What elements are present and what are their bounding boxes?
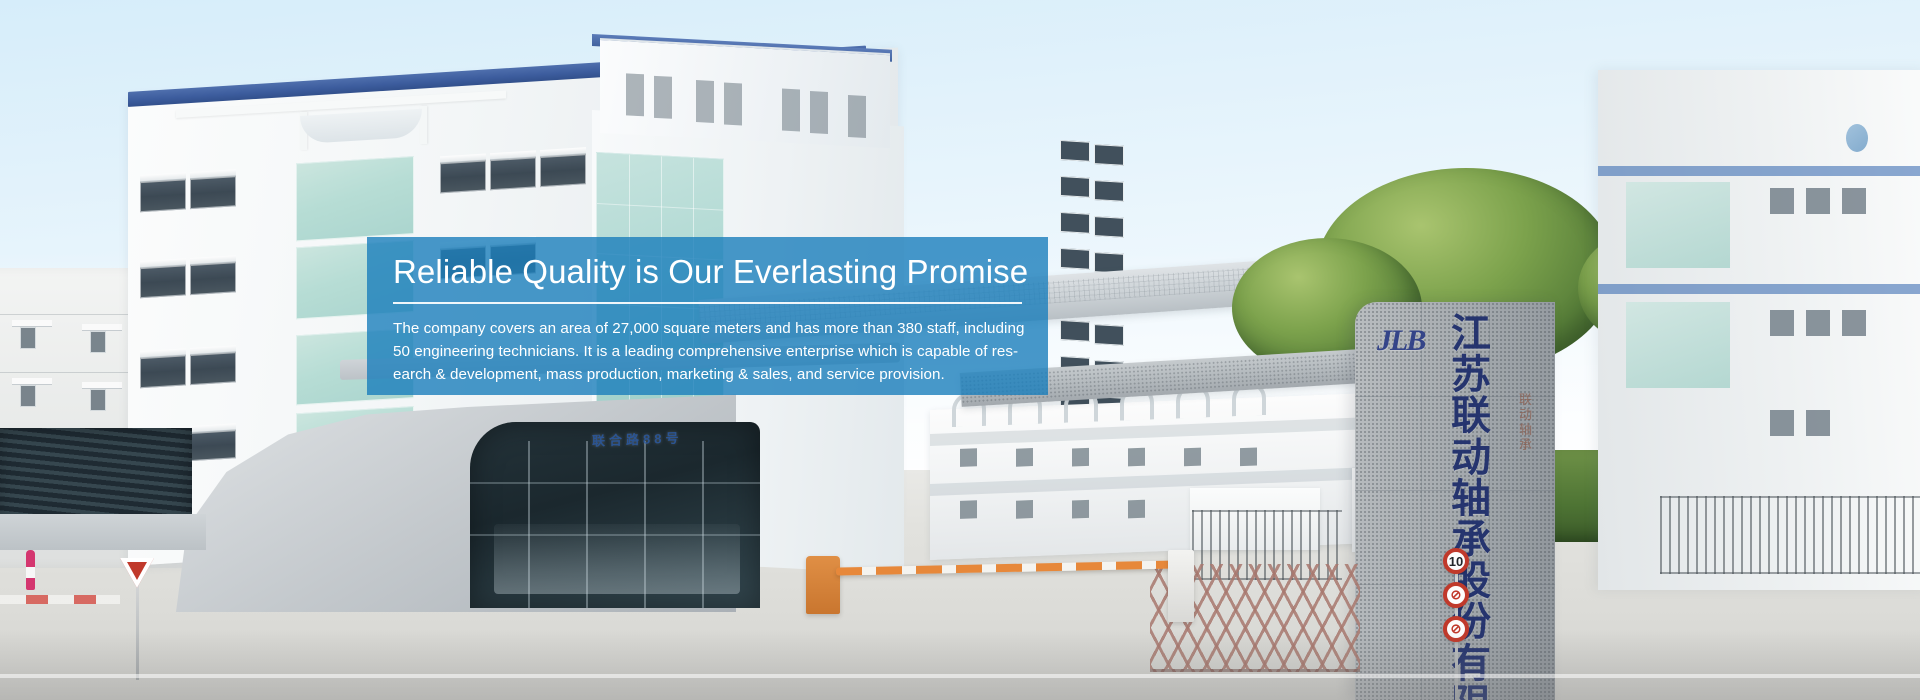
kerb-stripe-left: [0, 595, 120, 604]
hero-body-line-2: 50 engineering technicians. It is a lead…: [393, 340, 1022, 363]
hero-headline: Reliable Quality is Our Everlasting Prom…: [393, 253, 1022, 291]
prohibition-sign-1: ⊘: [1443, 582, 1469, 608]
road-marking: [0, 674, 1920, 678]
hero-body-line-3: earch & development, mass production, ma…: [393, 363, 1022, 386]
hero-divider: [393, 302, 1022, 304]
barrier-gate-base: [806, 556, 840, 614]
yield-sign-inner: [127, 562, 147, 580]
louvered-wall: [0, 428, 192, 528]
canopy-address-sign-cn: 联合路88号: [592, 427, 682, 449]
hero-text-overlay: Reliable Quality is Our Everlasting Prom…: [367, 237, 1048, 395]
entrance-glass-facade: [470, 422, 760, 608]
rooftop-penthouse: [600, 38, 890, 148]
ground-shadow: [0, 630, 1920, 700]
company-factory-hero-banner: JLB 江苏联动轴承股份有限公司 联动轴承 联合路88号 10 ⊘ ⊘ Reli…: [0, 0, 1920, 700]
speed-limit-sign: 10: [1443, 548, 1469, 574]
barrier-gate-post: [1168, 550, 1194, 622]
hero-body-text: The company covers an area of 27,000 squ…: [393, 317, 1022, 386]
bollard-left: [26, 550, 35, 590]
perimeter-fence-right: [1660, 496, 1920, 574]
gate-subtext-cn: 联动轴承: [1519, 394, 1535, 454]
jlb-logo: JLB: [1377, 324, 1424, 358]
louvered-wall-base: [0, 514, 206, 550]
satellite-dish-icon: [1846, 124, 1868, 152]
hero-body-line-1: The company covers an area of 27,000 squ…: [393, 317, 1022, 340]
